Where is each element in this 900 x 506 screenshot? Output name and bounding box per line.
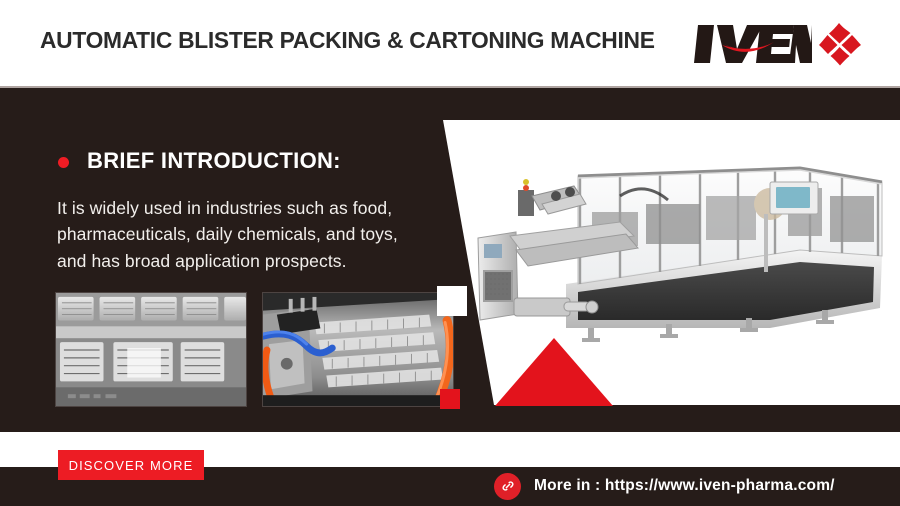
red-bullet-icon: [58, 157, 69, 168]
body-line-2: pharmaceuticals, daily chemicals, and to…: [57, 221, 469, 247]
website-url-label: More in : https://www.iven-pharma.com/: [534, 477, 835, 495]
iven-wordmark: [694, 21, 812, 67]
page-title: AUTOMATIC BLISTER PACKING & CARTONING MA…: [40, 27, 655, 54]
red-square-accent: [440, 389, 460, 409]
chain-link-icon: [494, 473, 521, 500]
white-square-accent: [437, 286, 467, 316]
thumbnail-blister-ampoule-tray[interactable]: [55, 292, 247, 407]
brief-introduction-heading-row: BRIEF INTRODUCTION:: [58, 148, 341, 174]
discover-more-button[interactable]: DISCOVER MORE: [58, 450, 204, 480]
banner-canvas: AUTOMATIC BLISTER PACKING & CARTONING MA…: [0, 0, 900, 506]
page-header: AUTOMATIC BLISTER PACKING & CARTONING MA…: [0, 0, 900, 88]
brand-logo[interactable]: [694, 16, 862, 72]
brief-introduction-body: It is widely used in industries such as …: [57, 195, 469, 274]
brief-introduction-heading: BRIEF INTRODUCTION:: [87, 148, 341, 174]
thumbnail-machine-conveyor[interactable]: [262, 292, 454, 407]
body-line-1: It is widely used in industries such as …: [57, 195, 469, 221]
iven-diamond-icon: [818, 21, 862, 67]
hero-machine-image: [470, 152, 890, 380]
body-line-3: and has broad application prospects.: [57, 248, 469, 274]
more-info-row[interactable]: More in : https://www.iven-pharma.com/: [494, 470, 835, 502]
